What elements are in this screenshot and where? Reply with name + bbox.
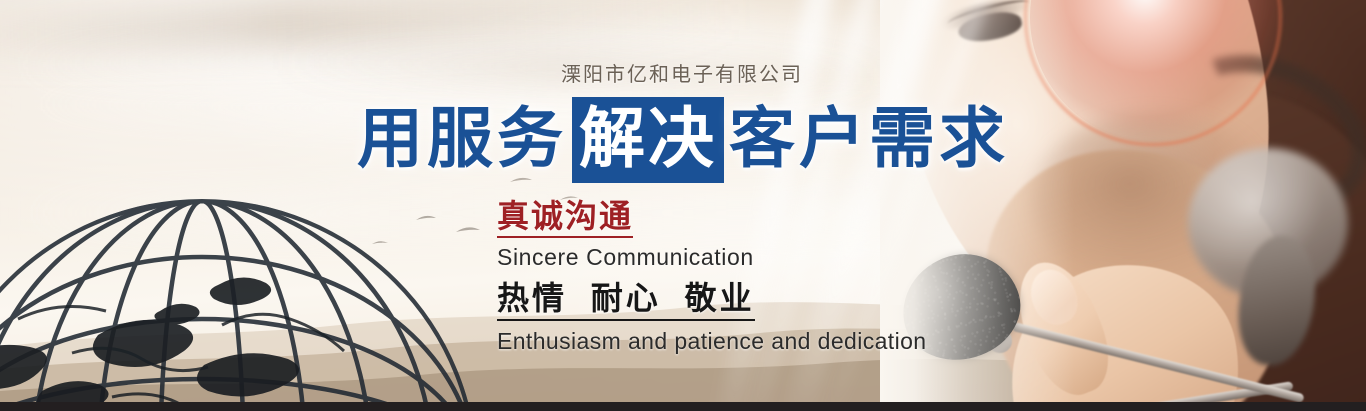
bottom-bar xyxy=(0,402,1366,411)
headline-highlight: 解决 xyxy=(572,97,724,183)
slogan-block: 真诚沟通 Sincere Communication 热情 耐心 敬业 Enth… xyxy=(497,198,927,357)
wireframe-globe-icon xyxy=(0,185,482,411)
headline: 用服务解决客户需求 xyxy=(0,97,1366,183)
slogan-en-1: Sincere Communication xyxy=(497,241,927,273)
slogan-cn-2: 热情 耐心 敬业 xyxy=(497,279,755,321)
slogan-cn-1: 真诚沟通 xyxy=(497,198,633,238)
headline-before: 用服务 xyxy=(357,101,567,175)
hero-banner: 溧阳市亿和电子有限公司 用服务解决客户需求 真诚沟通 Sincere Commu… xyxy=(0,0,1366,411)
company-name: 溧阳市亿和电子有限公司 xyxy=(0,58,1366,87)
headline-after: 客户需求 xyxy=(729,101,1009,175)
slogan-en-2: Enthusiasm and patience and dedication xyxy=(497,325,927,357)
company-name-text: 溧阳市亿和电子有限公司 xyxy=(561,58,803,87)
